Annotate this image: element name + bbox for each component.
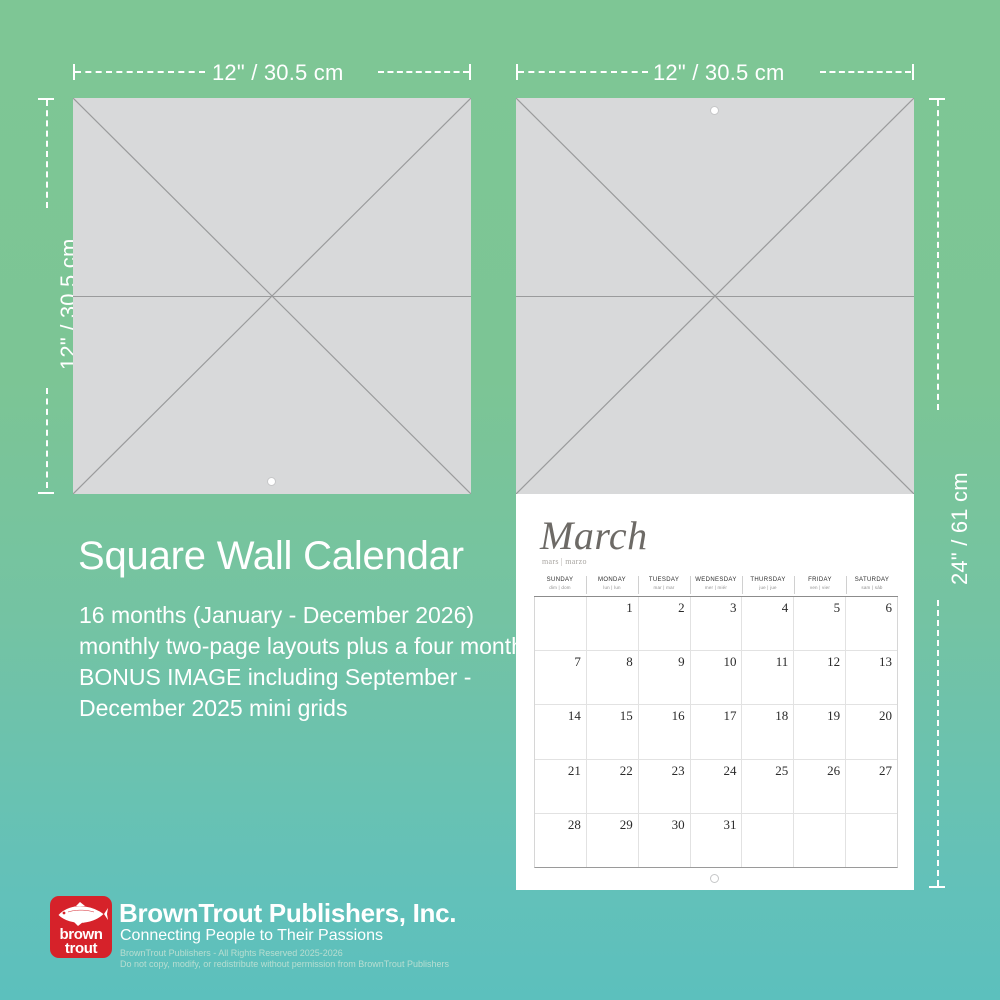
calendar-day-header: WEDNESDAY mer | miér [690,574,742,596]
dimension-dash-right [378,71,469,74]
trout-fish-icon [54,901,108,927]
dimension-label-top-left: 12" / 30.5 cm [212,60,343,86]
calendar-day-cell[interactable]: 20 [846,705,897,758]
day-name-translated: ven | vier [794,584,846,591]
calendar-day-cell[interactable]: 4 [742,597,794,650]
day-number: 15 [620,708,633,724]
product-promo-page: 12" / 30.5 cm 12" / 30.5 cm 12" / 30.5 c… [0,0,1000,1000]
left-page-image-placeholder [73,98,471,494]
calendar-day-cell[interactable] [535,597,587,650]
calendar-day-header: MONDAY lun | lun [586,574,638,596]
day-number: 29 [620,817,633,833]
calendar-week-row: 7 8 9 10 11 12 13 [535,651,897,705]
calendar-day-header: TUESDAY mar | mar [638,574,690,596]
day-name: WEDNESDAY [690,576,742,584]
day-number: 17 [723,708,736,724]
placeholder-diagonal-2 [516,98,914,494]
dimension-dash-bottom [937,600,940,886]
day-name-translated: mar | mar [638,584,690,591]
calendar-day-cell[interactable]: 2 [639,597,691,650]
day-number: 30 [672,817,685,833]
calendar-day-cell[interactable]: 25 [742,760,794,813]
logo-word-trout: trout [50,941,112,956]
calendar-day-header-row: SUNDAY dim | dom MONDAY lun | lun TUESDA… [534,574,898,597]
calendar-day-cell[interactable]: 23 [639,760,691,813]
dimension-cap-bottom [929,886,945,888]
calendar-day-cell[interactable]: 18 [742,705,794,758]
day-number: 22 [620,763,633,779]
day-number: 26 [827,763,840,779]
calendar-day-cell[interactable]: 3 [691,597,743,650]
day-name: SUNDAY [534,576,586,584]
calendar-day-cell[interactable]: 5 [794,597,846,650]
day-name-translated: jue | jue [742,584,794,591]
hole-punch-icon [710,874,719,883]
calendar-day-cell[interactable] [742,814,794,867]
calendar-month-title: March [540,516,648,556]
dimension-cap-right [469,64,471,80]
product-description: 16 months (January - December 2026) mont… [79,600,529,724]
calendar-day-header: SATURDAY sam | sáb [846,574,898,596]
placeholder-diagonal-1 [73,98,471,494]
calendar-day-cell[interactable] [846,814,897,867]
publisher-name: BrownTrout Publishers, Inc. [119,898,456,929]
day-number: 10 [723,654,736,670]
calendar-day-cell[interactable]: 24 [691,760,743,813]
day-name: FRIDAY [794,576,846,584]
day-name-translated: dim | dom [534,584,586,591]
day-number: 28 [568,817,581,833]
calendar-day-header: SUNDAY dim | dom [534,574,586,596]
calendar-week-row: 1 2 3 4 5 6 [535,597,897,651]
day-number: 12 [827,654,840,670]
calendar-grid: SUNDAY dim | dom MONDAY lun | lun TUESDA… [534,574,898,868]
dimension-dash-top [46,100,49,208]
day-number: 13 [879,654,892,670]
day-number: 2 [678,600,685,616]
day-name-translated: mer | miér [690,584,742,591]
calendar-day-header: FRIDAY ven | vier [794,574,846,596]
day-number: 4 [782,600,789,616]
calendar-day-cell[interactable]: 6 [846,597,897,650]
day-name-translated: sam | sáb [846,584,898,591]
browntrout-logo: brown trout [50,896,112,958]
day-number: 9 [678,654,685,670]
calendar-day-cell[interactable]: 19 [794,705,846,758]
day-number: 6 [886,600,893,616]
day-number: 11 [776,654,789,670]
day-number: 24 [723,763,736,779]
diagonal-cross-icon [516,98,914,494]
calendar-page: March mars | marzo SUNDAY dim | dom MOND… [516,494,914,890]
dimension-cap-bottom [38,492,54,494]
day-number: 1 [626,600,633,616]
copyright-notice: BrownTrout Publishers - All Rights Reser… [120,948,449,970]
hole-punch-icon [267,477,276,486]
calendar-day-cell[interactable]: 11 [742,651,794,704]
calendar-day-cell[interactable]: 21 [535,760,587,813]
day-number: 27 [879,763,892,779]
dimension-dash-left [518,71,648,74]
calendar-week-row: 28 29 30 31 [535,814,897,867]
page-title: Square Wall Calendar [78,534,464,579]
dimension-label-right: 24" / 61 cm [947,472,973,585]
diagonal-cross-icon [73,98,471,494]
dimension-dash-bottom [46,388,49,488]
calendar-day-cell[interactable]: 10 [691,651,743,704]
calendar-day-header: THURSDAY jue | jue [742,574,794,596]
day-number: 5 [834,600,841,616]
calendar-month-subtitle: mars | marzo [542,557,587,566]
day-number: 21 [568,763,581,779]
calendar-day-cell[interactable]: 26 [794,760,846,813]
calendar-day-cell[interactable]: 8 [587,651,639,704]
day-number: 23 [672,763,685,779]
dimension-cap-right [912,64,914,80]
calendar-week-row: 14 15 16 17 18 19 20 [535,705,897,759]
dimension-dash-top [937,100,940,410]
calendar-day-cell[interactable]: 7 [535,651,587,704]
hole-punch-icon [710,106,719,115]
calendar-day-cell[interactable]: 17 [691,705,743,758]
calendar-day-cell[interactable]: 1 [587,597,639,650]
calendar-day-cell[interactable]: 15 [587,705,639,758]
day-number: 3 [730,600,737,616]
copyright-line-2: Do not copy, modify, or redistribute wit… [120,959,449,970]
day-number: 25 [775,763,788,779]
calendar-day-cell[interactable]: 27 [846,760,897,813]
calendar-day-cell[interactable]: 29 [587,814,639,867]
dimension-label-top-right: 12" / 30.5 cm [653,60,784,86]
calendar-day-cell[interactable]: 14 [535,705,587,758]
day-number: 31 [723,817,736,833]
calendar-day-cell[interactable]: 16 [639,705,691,758]
day-number: 8 [626,654,633,670]
calendar-day-cell[interactable] [794,814,846,867]
day-number: 7 [574,654,581,670]
day-name: MONDAY [586,576,638,584]
day-number: 14 [568,708,581,724]
copyright-line-1: BrownTrout Publishers - All Rights Reser… [120,948,449,959]
dimension-dash-right [820,71,911,74]
publisher-tagline: Connecting People to Their Passions [120,927,383,945]
dimension-dash-left [75,71,205,74]
day-number: 19 [827,708,840,724]
calendar-weeks: 1 2 3 4 5 6 7 8 9 10 11 12 13 14 [534,597,898,868]
calendar-day-cell[interactable]: 13 [846,651,897,704]
day-number: 20 [879,708,892,724]
calendar-week-row: 21 22 23 24 25 26 27 [535,760,897,814]
calendar-day-cell[interactable]: 28 [535,814,587,867]
calendar-day-cell[interactable]: 22 [587,760,639,813]
right-page-image-placeholder [516,98,914,494]
day-number: 16 [672,708,685,724]
calendar-day-cell[interactable]: 31 [691,814,743,867]
calendar-day-cell[interactable]: 12 [794,651,846,704]
day-number: 18 [775,708,788,724]
calendar-day-cell[interactable]: 30 [639,814,691,867]
day-name: TUESDAY [638,576,690,584]
day-name-translated: lun | lun [586,584,638,591]
day-name: SATURDAY [846,576,898,584]
day-name: THURSDAY [742,576,794,584]
calendar-day-cell[interactable]: 9 [639,651,691,704]
